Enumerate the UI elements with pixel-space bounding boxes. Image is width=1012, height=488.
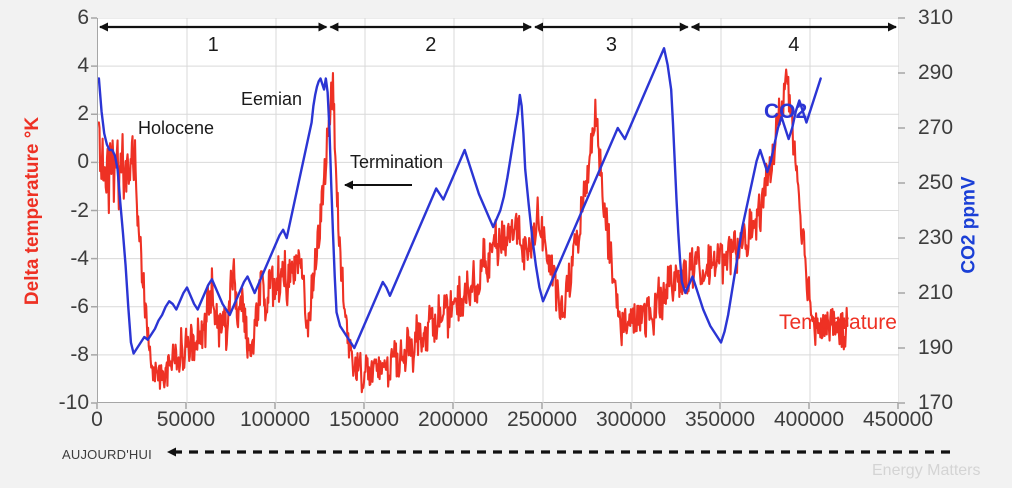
x-axis-ticks: 0500001000001500002000002500003000003500… [97, 408, 898, 438]
x-axis-tick-label: 350000 [685, 408, 755, 432]
plot-canvas [98, 18, 899, 403]
y-axis-left-tick-label: -6 [70, 295, 89, 319]
annotation-termination: Termination [350, 152, 443, 173]
annotation-holocene: Holocene [138, 118, 214, 139]
chart-root: Delta temperature °K 6420-2-4-6-8-10 CO2… [0, 0, 1012, 488]
y-axis-right-tick-label: 270 [918, 116, 953, 140]
y-axis-left-tick-label: -8 [70, 343, 89, 367]
series-label-temperature: Temperature [779, 311, 897, 335]
y-axis-left-title: Delta temperature °K [18, 18, 48, 403]
y-axis-right-ticks: 310290270250230210190170 [918, 18, 988, 403]
y-axis-left-title-label: Delta temperature °K [22, 116, 44, 304]
x-axis-tick-label: 300000 [596, 408, 666, 432]
y-axis-left-tick-label: -2 [70, 199, 89, 223]
y-axis-right-tick-label: 250 [918, 171, 953, 195]
y-axis-right-tick-label: 310 [918, 6, 953, 30]
x-axis-tick-label: 400000 [774, 408, 844, 432]
x-axis-tick-label: 150000 [329, 408, 399, 432]
today-label: AUJOURD'HUI [62, 447, 152, 462]
watermark: Energy Matters [872, 462, 980, 480]
y-axis-left-tick-label: 2 [77, 102, 89, 126]
y-axis-right-tick-label: 190 [918, 336, 953, 360]
y-axis-right-tick-label: 210 [918, 281, 953, 305]
y-axis-left-tick-label: 0 [77, 150, 89, 174]
x-axis-tick-label: 200000 [418, 408, 488, 432]
series-label-co2: CO2 [764, 100, 807, 124]
plot-area [97, 18, 898, 403]
x-axis-tick-label: 450000 [863, 408, 933, 432]
y-axis-left-tick-label: 6 [77, 6, 89, 30]
y-axis-left-tick-label: -10 [59, 391, 89, 415]
y-axis-right-tick-label: 290 [918, 61, 953, 85]
y-axis-left-tick-label: -4 [70, 247, 89, 271]
annotation-eemian: Eemian [241, 89, 302, 110]
x-axis-tick-label: 100000 [240, 408, 310, 432]
x-axis-tick-label: 250000 [507, 408, 577, 432]
y-axis-left-tick-label: 4 [77, 54, 89, 78]
y-axis-left-ticks: 6420-2-4-6-8-10 [55, 18, 89, 403]
y-axis-right-tick-label: 230 [918, 226, 953, 250]
x-axis-tick-label: 50000 [157, 408, 215, 432]
x-axis-tick-label: 0 [91, 408, 103, 432]
